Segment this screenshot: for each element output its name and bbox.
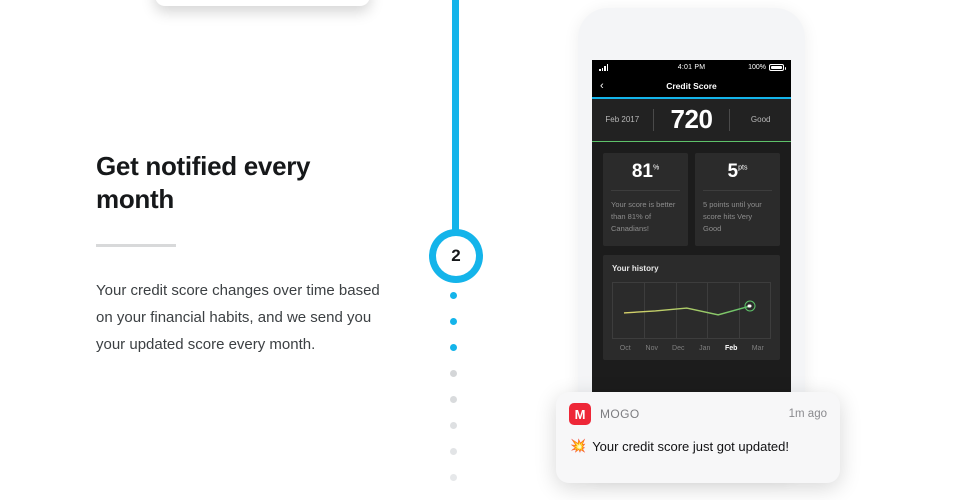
stat-card-percentile[interactable]: 81% Your score is better than 81% of Can…	[603, 153, 688, 246]
score-value: 720	[654, 104, 730, 135]
month-label: Dec	[665, 345, 692, 352]
timeline-dot	[450, 370, 457, 377]
score-band: Feb 2017 720 Good	[592, 99, 791, 141]
nav-title: Credit Score	[666, 81, 717, 91]
month-label: Oct	[612, 345, 639, 352]
history-chart	[612, 282, 771, 339]
section-body-text: Your credit score changes over time base…	[96, 277, 386, 358]
status-bar-time: 4:01 PM	[592, 64, 791, 71]
notification-body: 💥 Your credit score just got updated!	[556, 425, 840, 454]
stat-divider	[611, 190, 680, 191]
stat-value: 81	[632, 161, 653, 182]
section-copy: Get notified every month Your credit sco…	[96, 150, 386, 358]
title-divider	[96, 244, 176, 247]
stat-description: 5 points until your score hits Very Good	[703, 199, 772, 235]
chevron-left-icon[interactable]: ‹	[600, 81, 604, 92]
timeline-dot	[450, 448, 457, 455]
history-current-point	[744, 301, 755, 312]
stat-unit: pts	[738, 165, 747, 172]
score-rating: Good	[730, 115, 791, 124]
stat-value-row: 81%	[611, 162, 680, 181]
timeline-dot	[450, 474, 457, 481]
timeline-dot	[450, 292, 457, 299]
score-date: Feb 2017	[592, 115, 653, 124]
stat-value: 5	[728, 161, 739, 182]
stat-cards: 81% Your score is better than 81% of Can…	[592, 142, 791, 246]
month-label: Nov	[639, 345, 666, 352]
history-title: Your history	[612, 264, 771, 273]
history-card: Your history	[603, 255, 780, 360]
app-nav-bar: ‹ Credit Score	[592, 75, 791, 97]
mogo-logo-initial: M	[575, 408, 586, 421]
stat-value-row: 5pts	[703, 162, 772, 181]
timeline-dots	[450, 292, 457, 500]
page-title: Get notified every month	[96, 150, 386, 215]
timeline-dot	[450, 318, 457, 325]
timeline-line	[452, 0, 459, 232]
notification-message: Your credit score just got updated!	[592, 439, 789, 454]
timeline-step-number: 2	[436, 236, 476, 276]
timeline-dot	[450, 396, 457, 403]
month-label-current: Feb	[718, 345, 745, 352]
explosion-emoji-icon: 💥	[570, 438, 586, 454]
timeline-dot	[450, 422, 457, 429]
page-stage: Get notified every month Your credit sco…	[0, 0, 954, 493]
notification-toast[interactable]: M MOGO 1m ago 💥 Your credit score just g…	[556, 392, 840, 483]
mogo-logo-icon: M	[569, 403, 591, 425]
battery-icon	[769, 64, 784, 71]
timeline-step-badge[interactable]: 2	[429, 229, 483, 283]
month-label: Mar	[745, 345, 772, 352]
stat-card-points[interactable]: 5pts 5 points until your score hits Very…	[695, 153, 780, 246]
notification-app-name: MOGO	[600, 407, 640, 421]
notification-header: M MOGO 1m ago	[556, 392, 840, 425]
timeline-dot	[450, 344, 457, 351]
month-label: Jan	[692, 345, 719, 352]
stat-unit: %	[653, 165, 659, 172]
stat-divider	[703, 190, 772, 191]
notification-timestamp: 1m ago	[789, 408, 827, 420]
stat-description: Your score is better than 81% of Canadia…	[611, 199, 680, 235]
previous-card-fragment	[155, 0, 370, 6]
history-month-labels: Oct Nov Dec Jan Feb Mar	[612, 345, 771, 352]
status-bar: 4:01 PM 100%	[592, 60, 791, 75]
